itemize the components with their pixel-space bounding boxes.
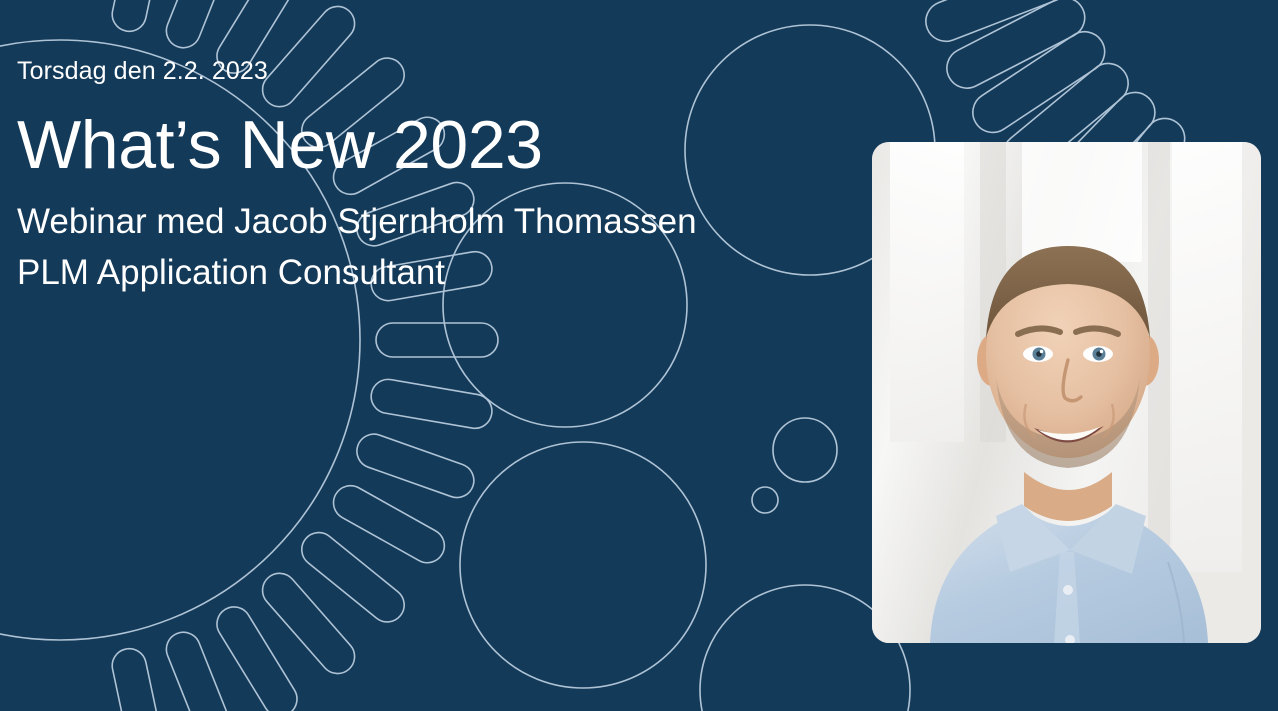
presenter-photo <box>872 142 1261 643</box>
page-title: What’s New 2023 <box>17 105 817 185</box>
slide-text-block: Torsdag den 2.2. 2023 What’s New 2023 We… <box>17 56 817 299</box>
slide-subtitle-presenter: Webinar med Jacob Stjernholm Thomassen <box>17 197 817 248</box>
presentation-slide: Torsdag den 2.2. 2023 What’s New 2023 We… <box>0 0 1278 711</box>
slide-subtitle-role: PLM Application Consultant <box>17 248 817 299</box>
presenter-portrait-illustration <box>872 142 1261 643</box>
slide-date: Torsdag den 2.2. 2023 <box>17 56 817 87</box>
